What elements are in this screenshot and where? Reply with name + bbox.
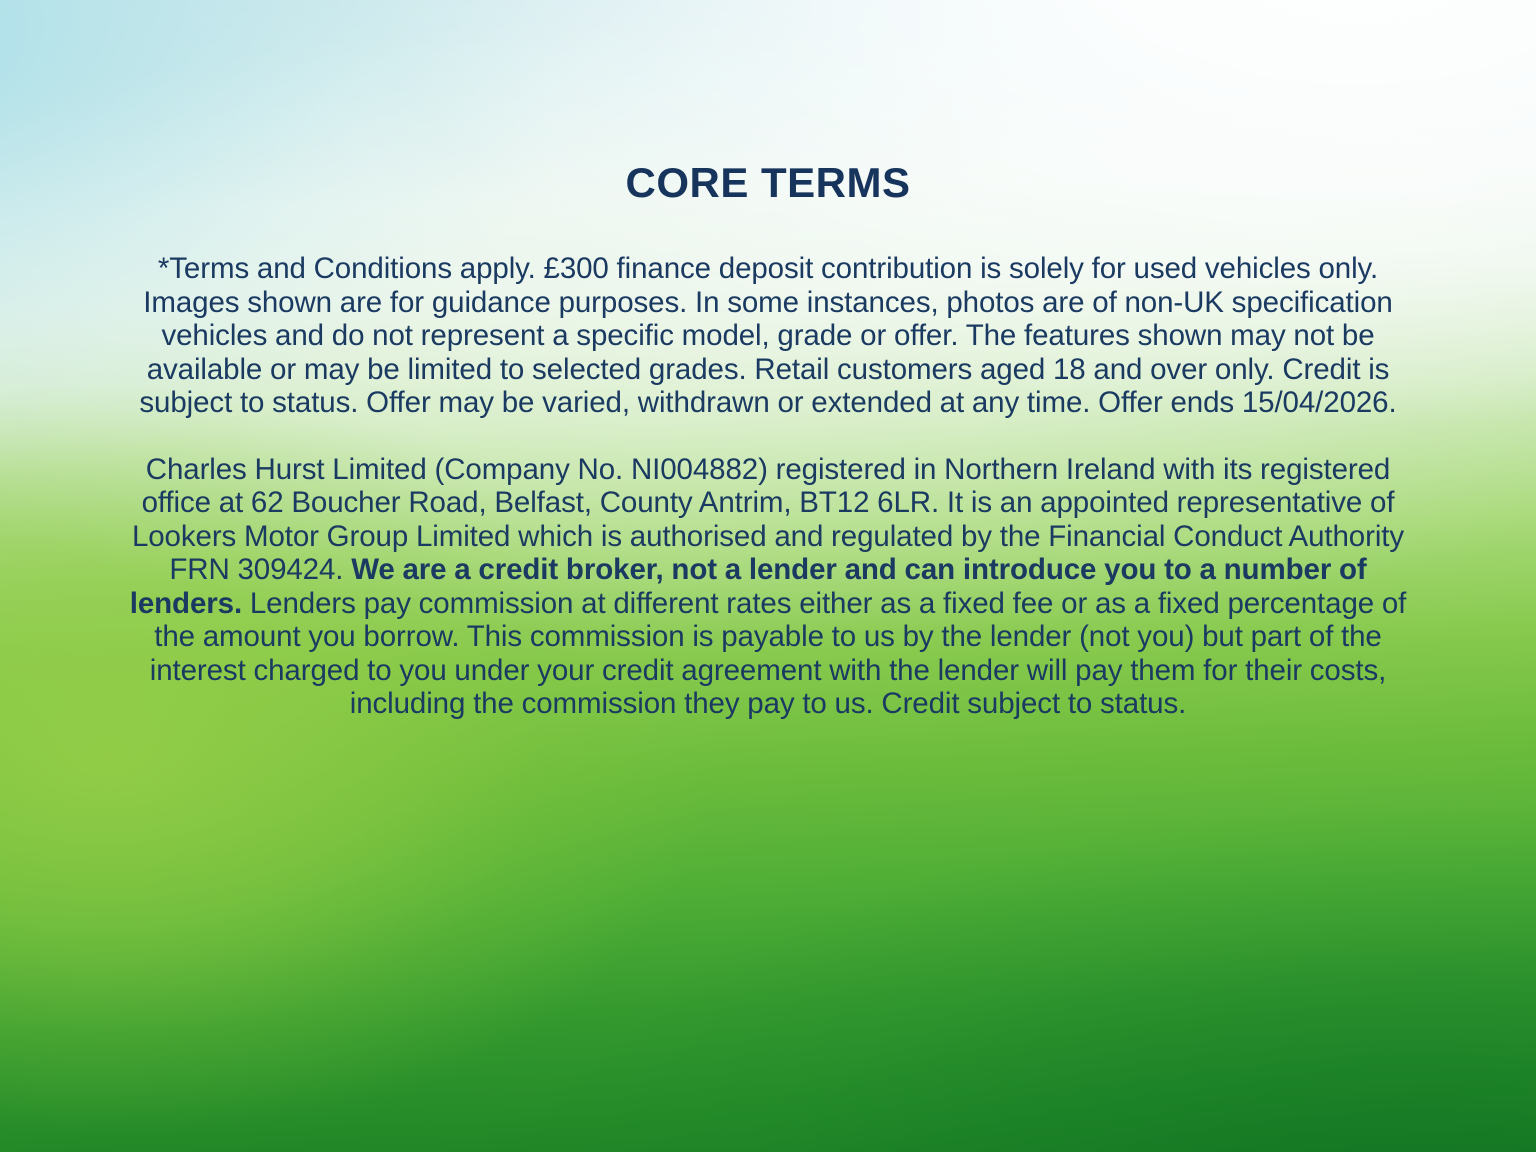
page-title: CORE TERMS xyxy=(0,160,1536,206)
terms-body: *Terms and Conditions apply. £300 financ… xyxy=(128,252,1408,721)
paragraph-company-disclosure: Charles Hurst Limited (Company No. NI004… xyxy=(128,453,1408,721)
text-run: Lenders pay commission at different rate… xyxy=(150,587,1407,721)
paragraph-terms-disclaimer: *Terms and Conditions apply. £300 financ… xyxy=(128,252,1408,420)
text-run: *Terms and Conditions apply. £300 financ… xyxy=(139,252,1396,419)
slide-canvas: CORE TERMS *Terms and Conditions apply. … xyxy=(0,0,1536,1152)
slide-content: CORE TERMS *Terms and Conditions apply. … xyxy=(0,0,1536,1152)
